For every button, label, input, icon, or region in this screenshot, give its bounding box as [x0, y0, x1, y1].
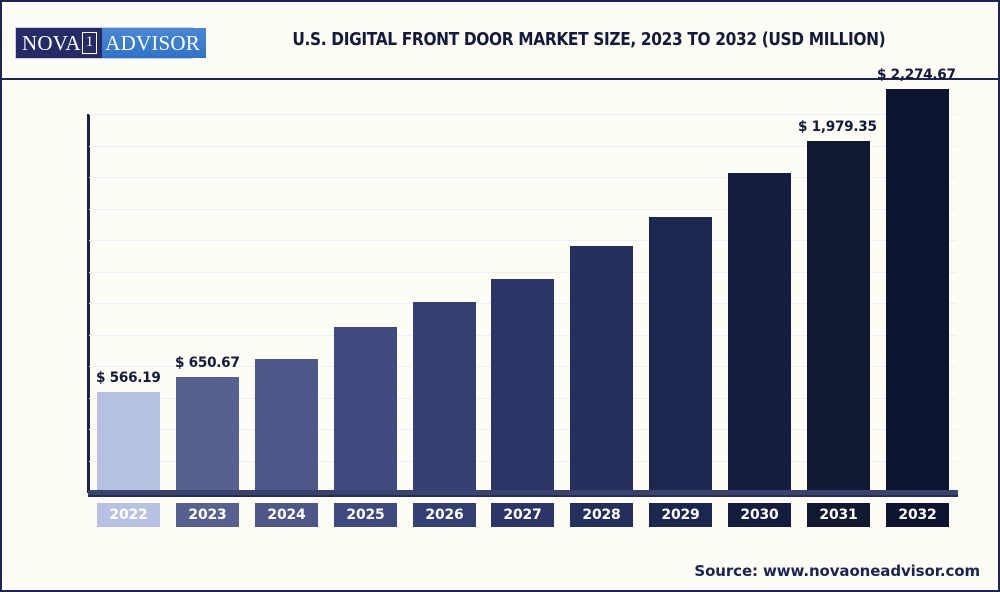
bar-value-label-2023: $ 650.67 [175, 355, 240, 371]
logo-right-block: ADVISOR [102, 28, 206, 58]
bar-2022 [97, 392, 160, 492]
year-chip-2024: 2024 [255, 503, 318, 527]
year-chip-2022: 2022 [97, 503, 160, 527]
bar-2031 [807, 141, 870, 492]
x-axis-line [88, 490, 958, 497]
header-divider [2, 78, 998, 80]
bar-2028 [570, 246, 633, 492]
bar-2032 [886, 89, 949, 492]
logo-brand-second: ADVISOR [105, 33, 200, 54]
bar-2030 [728, 173, 791, 492]
bar-value-label-2032: $ 2,274.67 [877, 67, 956, 83]
logo-left-block: NOVA 1 [16, 28, 102, 58]
year-chip-2032: 2032 [886, 503, 949, 527]
bar-2026 [413, 302, 476, 492]
year-chip-2026: 2026 [413, 503, 476, 527]
x-axis-category-labels: 2022202320242025202620272028202920302031… [89, 503, 957, 527]
logo-brand-first: NOVA [22, 33, 81, 54]
year-chip-2023: 2023 [176, 503, 239, 527]
year-chip-2030: 2030 [728, 503, 791, 527]
bar-2029 [649, 217, 712, 492]
bar-2023 [176, 377, 239, 492]
bar-2024 [255, 359, 318, 492]
novaoneadvisor-logo: NOVA 1 ADVISOR [16, 28, 192, 58]
year-chip-2029: 2029 [649, 503, 712, 527]
bar-2025 [334, 327, 397, 492]
plot-area: $ 566.19$ 650.67$ 1,979.35$ 2,274.67 [89, 114, 957, 492]
page-title: U.S. DIGITAL FRONT DOOR MARKET SIZE, 202… [292, 30, 855, 50]
year-chip-2025: 2025 [334, 503, 397, 527]
chart-figure: NOVA 1 ADVISOR U.S. DIGITAL FRONT DOOR M… [0, 0, 1000, 592]
gridline [89, 114, 957, 115]
year-chip-2031: 2031 [807, 503, 870, 527]
source-attribution: Source: www.novaoneadvisor.com [694, 562, 980, 580]
bar-value-label-2022: $ 566.19 [96, 370, 161, 386]
chart-header: NOVA 1 ADVISOR U.S. DIGITAL FRONT DOOR M… [2, 2, 998, 78]
bar-2027 [491, 279, 554, 492]
year-chip-2028: 2028 [570, 503, 633, 527]
logo-one-badge: 1 [82, 32, 98, 54]
year-chip-2027: 2027 [491, 503, 554, 527]
bar-value-label-2031: $ 1,979.35 [798, 119, 877, 135]
